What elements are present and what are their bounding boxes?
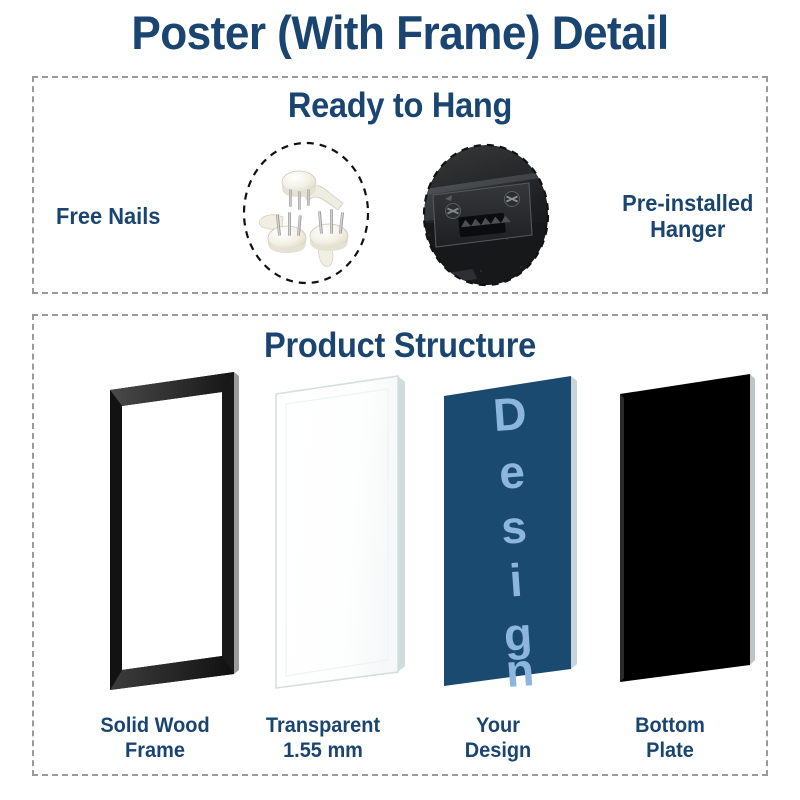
caption-line-2: Design <box>465 739 532 762</box>
svg-text:s: s <box>499 500 528 554</box>
hanger-photo-icon <box>411 139 561 294</box>
label-free-nails: Free Nails <box>38 203 179 229</box>
caption-solid-wood-frame: Solid Wood Frame <box>74 714 236 764</box>
exploded-layers: D e s i g n <box>34 368 766 708</box>
page-title: Poster (With Frame) Detail <box>24 8 776 57</box>
layer-captions: Solid Wood Frame Transparent 1.55 mm You… <box>34 714 766 778</box>
infographic-page: Poster (With Frame) Detail Ready to Hang… <box>0 0 800 800</box>
section-heading-ready-to-hang: Ready to Hang <box>60 86 741 126</box>
caption-bottom-plate: Bottom Plate <box>594 714 746 764</box>
caption-line-1: Transparent <box>266 714 380 737</box>
layer-bottom-plate <box>612 368 762 698</box>
caption-line-1: Your <box>476 714 520 737</box>
label-line-1: Pre-installed <box>622 190 753 216</box>
layer-your-design: D e s i g n <box>438 368 588 698</box>
label-pre-installed-hanger: Pre-installed Hanger <box>612 190 762 243</box>
ready-to-hang-row: Free Nails <box>34 136 766 296</box>
svg-text:n: n <box>504 643 536 697</box>
section-product-structure: Product Structure <box>32 314 768 776</box>
section-heading-product-structure: Product Structure <box>60 326 741 366</box>
caption-transparent-sheet: Transparent 1.55 mm <box>238 714 407 764</box>
nails-photo-icon <box>231 139 381 294</box>
caption-line-1: Solid Wood <box>100 714 209 737</box>
caption-line-1: Bottom <box>635 714 705 737</box>
label-line-2: Hanger <box>650 216 725 242</box>
layer-transparent-sheet <box>268 368 418 698</box>
caption-line-2: 1.55 mm <box>283 739 363 762</box>
caption-line-2: Plate <box>646 739 694 762</box>
layer-solid-wood-frame <box>100 368 250 698</box>
section-ready-to-hang: Ready to Hang Free Nails <box>32 76 768 294</box>
caption-your-design: Your Design <box>428 714 569 764</box>
svg-text:e: e <box>497 445 526 499</box>
svg-text:D: D <box>491 387 528 441</box>
caption-line-2: Frame <box>125 739 185 762</box>
